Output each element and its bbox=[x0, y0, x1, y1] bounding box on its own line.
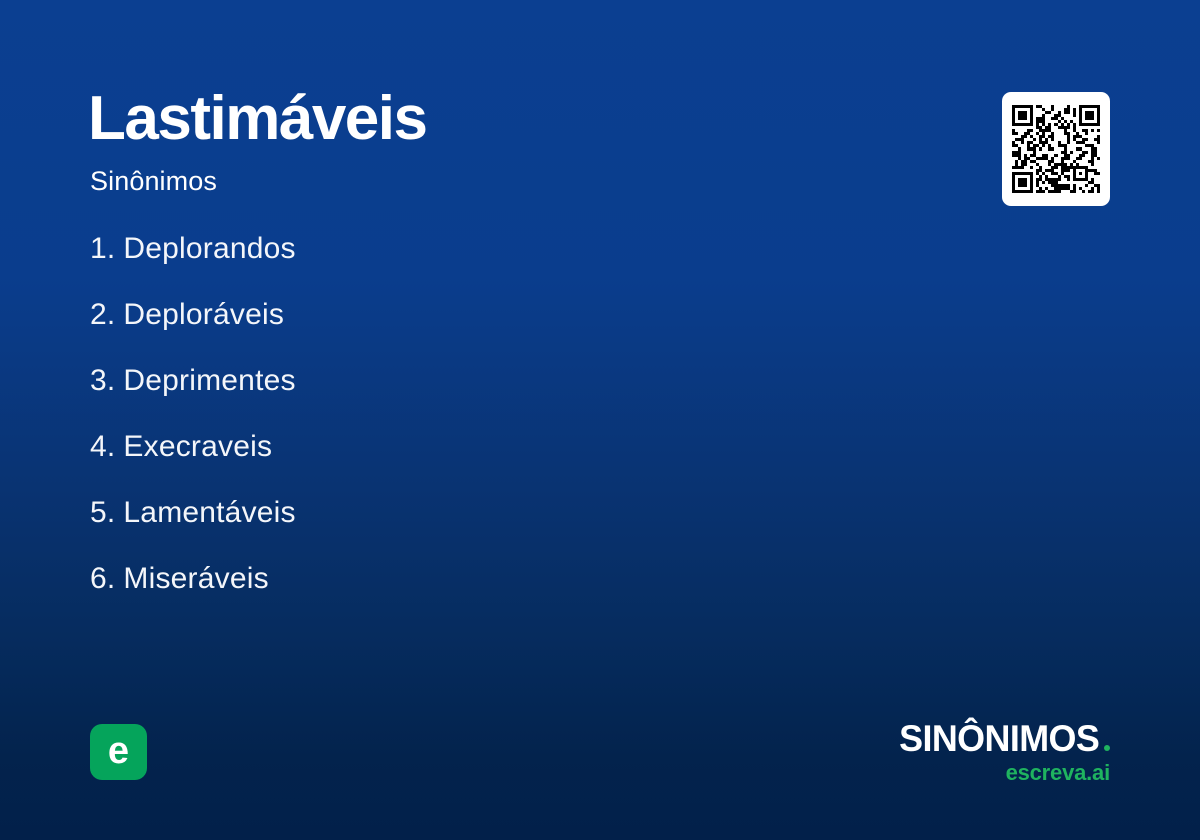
qr-code-card[interactable] bbox=[1002, 92, 1110, 206]
list-item-word: Execraveis bbox=[123, 430, 272, 463]
list-item: 4.Execraveis bbox=[90, 432, 296, 462]
synonym-list: 1.Deplorandos2.Deploráveis3.Deprimentes4… bbox=[90, 234, 296, 630]
brand-badge-icon[interactable]: e bbox=[90, 724, 147, 780]
list-item: 1.Deplorandos bbox=[90, 234, 296, 264]
list-item-word: Miseráveis bbox=[123, 562, 268, 595]
list-item-index: 4. bbox=[90, 430, 115, 463]
synonym-card: Lastimáveis Sinônimos 1.Deplorandos2.Dep… bbox=[0, 0, 1200, 840]
list-item-index: 3. bbox=[90, 364, 115, 397]
list-item-word: Deplorandos bbox=[123, 232, 295, 265]
page-subtitle: Sinônimos bbox=[90, 166, 217, 197]
footer-logo-main-row: SINÔNIMOS bbox=[896, 720, 1110, 757]
page-title: Lastimáveis bbox=[88, 86, 427, 151]
footer-logo-sub: escreva.ai bbox=[896, 762, 1110, 784]
list-item: 2.Deploráveis bbox=[90, 300, 296, 330]
list-item-index: 2. bbox=[90, 298, 115, 331]
list-item-word: Deploráveis bbox=[123, 298, 284, 331]
list-item: 3.Deprimentes bbox=[90, 366, 296, 396]
footer-logo[interactable]: SINÔNIMOS escreva.ai bbox=[896, 720, 1110, 784]
qr-code-icon bbox=[1012, 105, 1100, 193]
list-item-index: 1. bbox=[90, 232, 115, 265]
list-item-index: 6. bbox=[90, 562, 115, 595]
list-item: 5.Lamentáveis bbox=[90, 498, 296, 528]
footer-logo-main: SINÔNIMOS bbox=[899, 720, 1099, 757]
list-item-word: Lamentáveis bbox=[123, 496, 295, 529]
list-item: 6.Miseráveis bbox=[90, 564, 296, 594]
list-item-index: 5. bbox=[90, 496, 115, 529]
list-item-word: Deprimentes bbox=[123, 364, 295, 397]
brand-badge-letter: e bbox=[108, 732, 129, 770]
logo-dot-icon bbox=[1104, 745, 1110, 751]
